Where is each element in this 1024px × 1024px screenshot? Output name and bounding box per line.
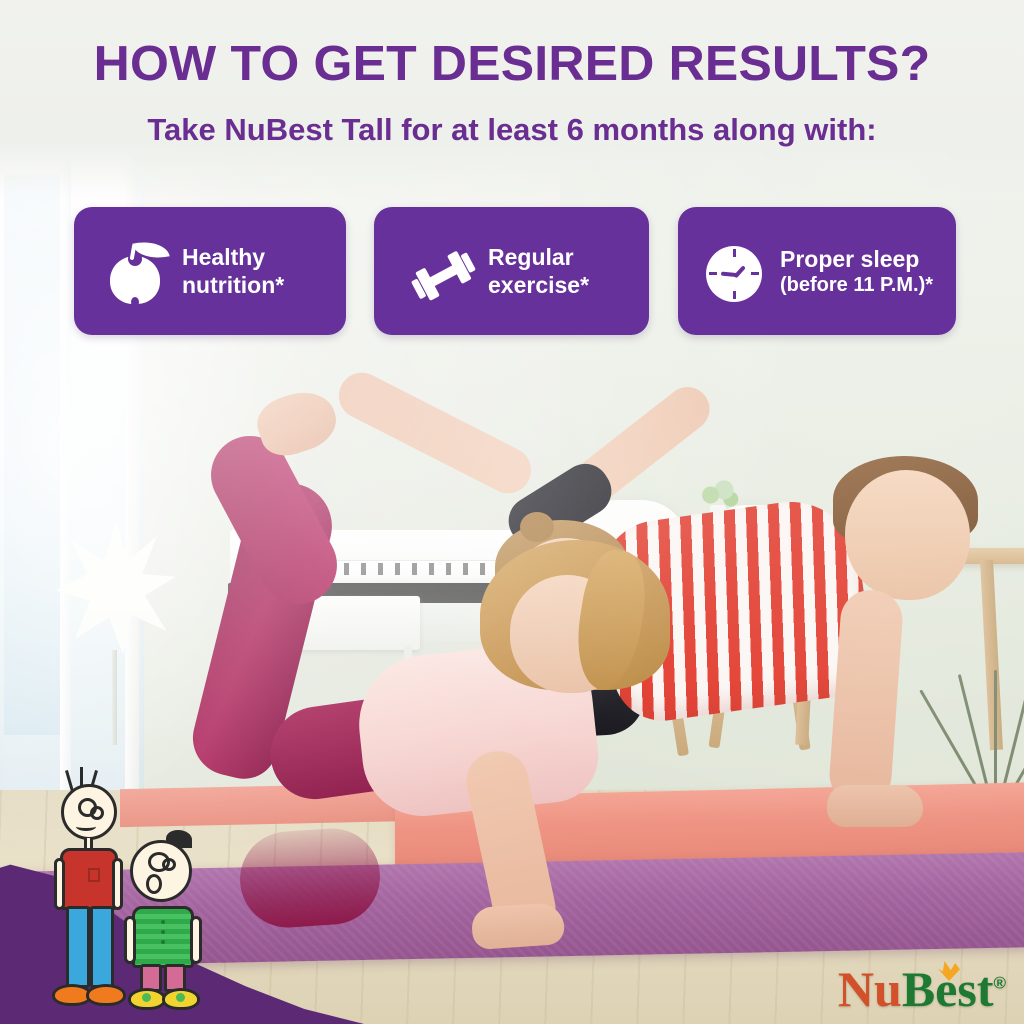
cartoon-short-kid [122, 832, 208, 1024]
registered-trademark-symbol: ® [993, 973, 1006, 992]
card-label: Healthy nutrition* [182, 243, 284, 299]
clock-icon [700, 236, 766, 306]
boy-head [845, 470, 970, 600]
card-line-2: exercise* [488, 272, 589, 298]
shoe-flower [142, 993, 151, 1002]
star-lamp [48, 510, 188, 740]
girl-photo [180, 400, 700, 960]
card-line-2: nutrition* [182, 272, 284, 298]
girl-knee [237, 825, 383, 931]
page-title: HOW TO GET DESIRED RESULTS? [0, 36, 1024, 92]
kid-shirt-button [161, 940, 165, 944]
logo-text-nu: Nu [838, 961, 902, 1017]
kid-eye [162, 858, 176, 871]
cartoon-tall-kid [46, 772, 128, 1024]
card-label: Regular exercise* [488, 243, 589, 299]
kid-shirt [132, 906, 194, 968]
kid-shirt-pocket [88, 868, 100, 882]
kid-shirt-button [161, 930, 165, 934]
kid-shirt-button [161, 920, 165, 924]
kid-eye [90, 806, 104, 820]
cartoon-kids [44, 772, 214, 1024]
card-line-2: (before 11 P.M.)* [780, 273, 933, 297]
kid-mouth [76, 822, 96, 831]
page-subtitle: Take NuBest Tall for at least 6 months a… [0, 112, 1024, 148]
dumbbell-icon [408, 236, 474, 306]
card-line-1: Regular [488, 244, 574, 270]
card-regular-exercise[interactable]: Regular exercise* [374, 207, 649, 335]
boy-hand [827, 785, 923, 827]
kid-arm [190, 916, 202, 964]
kid-arm [54, 858, 65, 910]
nubest-logo[interactable]: NuBest® [838, 964, 1006, 1014]
girl-hand [471, 902, 566, 950]
infographic-canvas: HOW TO GET DESIRED RESULTS? Take NuBest … [0, 0, 1024, 1024]
kid-arm [124, 916, 136, 964]
star-lamp-shade [56, 520, 176, 655]
kid-shoe [86, 984, 126, 1006]
card-line-1: Proper sleep [780, 246, 919, 272]
shoe-flower [176, 993, 185, 1002]
star-lamp-pole [112, 650, 117, 745]
card-label: Proper sleep (before 11 P.M.)* [780, 245, 933, 297]
card-proper-sleep[interactable]: Proper sleep (before 11 P.M.)* [678, 207, 956, 335]
kid-leg [90, 906, 114, 988]
feature-cards: Healthy nutrition* Regular exercise* [0, 207, 1024, 335]
header-panel: HOW TO GET DESIRED RESULTS? Take NuBest … [0, 0, 1024, 200]
kid-mouth [146, 874, 162, 894]
card-healthy-nutrition[interactable]: Healthy nutrition* [74, 207, 346, 335]
kid-leg [66, 906, 90, 988]
card-line-1: Healthy [182, 244, 265, 270]
apple-icon [102, 236, 168, 306]
